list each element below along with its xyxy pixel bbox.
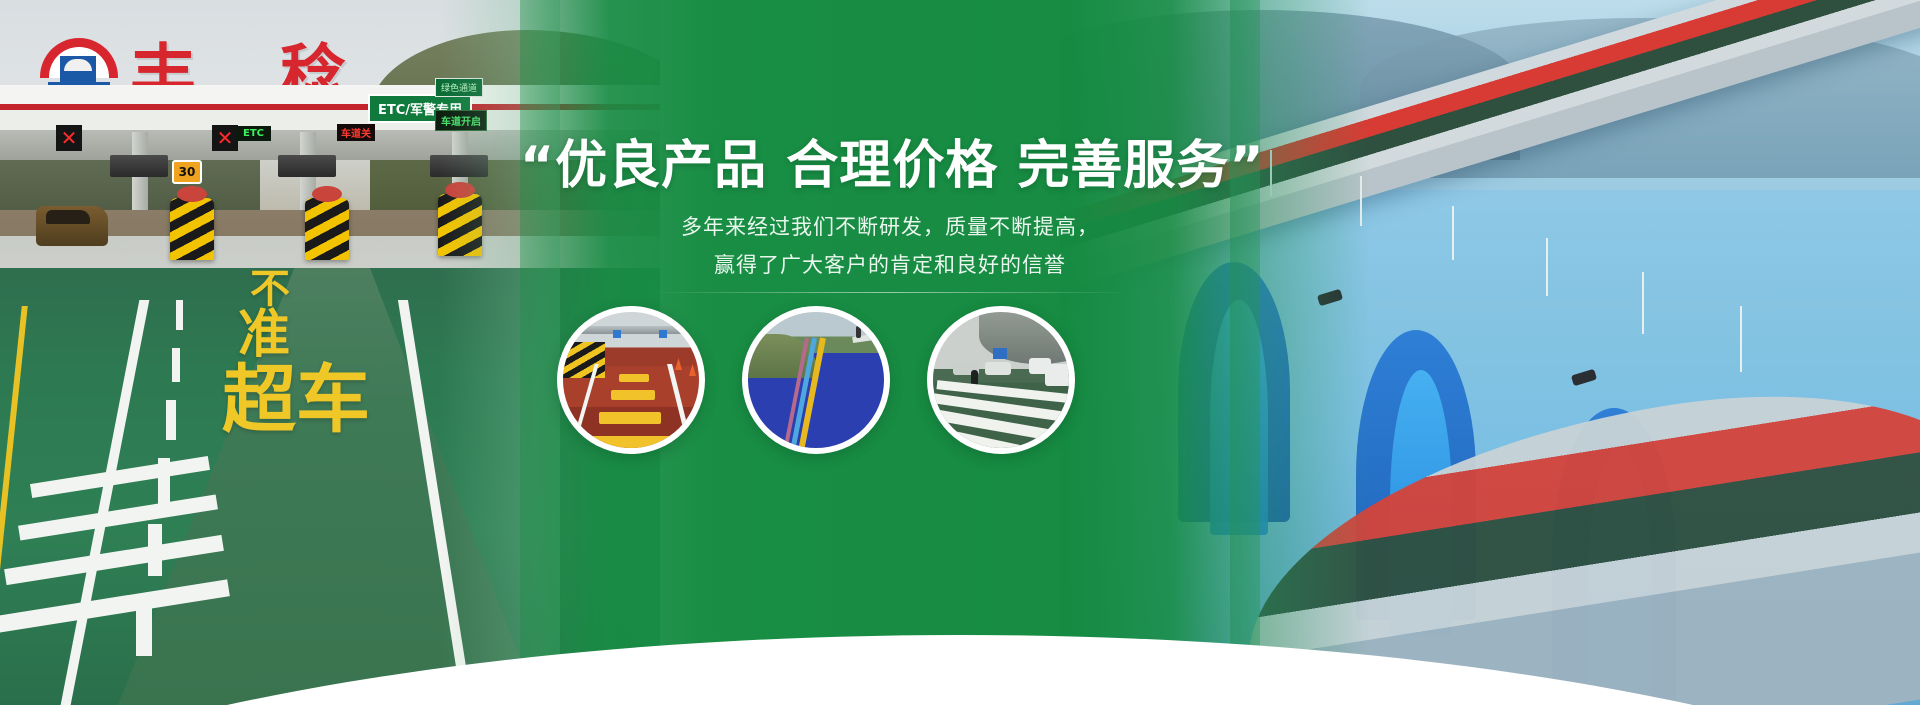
- lane-closed-x-icon-1: ✕: [56, 125, 82, 151]
- airport-crosswalk-thumb[interactable]: [927, 306, 1075, 454]
- blue-sign-icon-1: [613, 330, 621, 338]
- guangdong-transport-logo-icon: [40, 38, 118, 90]
- airport-crosswalk-image: [933, 312, 1069, 448]
- shuttle-bus-2: [1029, 358, 1051, 374]
- speed-limit-sign: 30: [172, 160, 202, 184]
- island-nose-1: [170, 198, 214, 260]
- street-lamp-3: [1452, 206, 1454, 260]
- pedestrian-figure: [856, 326, 861, 338]
- barrier-chevrons: [563, 342, 605, 378]
- bike-lane-image: [748, 312, 884, 448]
- lane-closed-text: 车道关: [337, 124, 375, 141]
- dash-1: [176, 300, 183, 330]
- gantry-beam-icon: [571, 326, 701, 334]
- parked-car-2: [985, 362, 1011, 375]
- lane-closed-x-icon-2: ✕: [212, 125, 238, 151]
- banner-headline: “优良产品 合理价格 完善服务”: [520, 135, 1260, 197]
- banner-subtitle-line-2: 赢得了广大客户的肯定和良好的信誉: [520, 250, 1260, 280]
- street-lamp-4: [1546, 238, 1548, 296]
- yellow-mark-2: [611, 390, 655, 400]
- yellow-mark-3: [599, 412, 661, 424]
- dash-2: [172, 348, 180, 382]
- booth-awning-2: [278, 155, 336, 177]
- yellow-mark-4: [585, 436, 675, 450]
- vehicle: [36, 206, 108, 246]
- blue-bike-lane-thumb[interactable]: [742, 306, 890, 454]
- dash-3: [166, 400, 176, 440]
- traffic-cone-1: [675, 358, 682, 370]
- yellow-mark-1: [619, 374, 649, 382]
- banner-subtitle-line-1: 多年来经过我们不断研发，质量不断提高，: [520, 212, 1260, 242]
- hero-banner: 丰 稔 ETC/军警专用 绿色通道 车道开启 ✕ ✕ ETC 车道关 30: [0, 0, 1920, 705]
- divider-rule: [650, 292, 1130, 293]
- thumbnail-row: [520, 300, 1260, 480]
- traffic-cone-2: [689, 364, 696, 376]
- lane-led-etc: ETC: [236, 126, 271, 141]
- etc-lane-image: [563, 312, 699, 448]
- booth-awning-1: [110, 155, 168, 177]
- road-char-3: 超车: [222, 340, 370, 447]
- etc-toll-lane-thumb[interactable]: [557, 306, 705, 454]
- street-lamp-5: [1642, 272, 1644, 334]
- blue-sign-icon-2: [659, 330, 667, 338]
- street-lamp-6: [1740, 306, 1742, 372]
- island-nose-2: [305, 198, 349, 260]
- airport-sign-icon: [993, 348, 1007, 359]
